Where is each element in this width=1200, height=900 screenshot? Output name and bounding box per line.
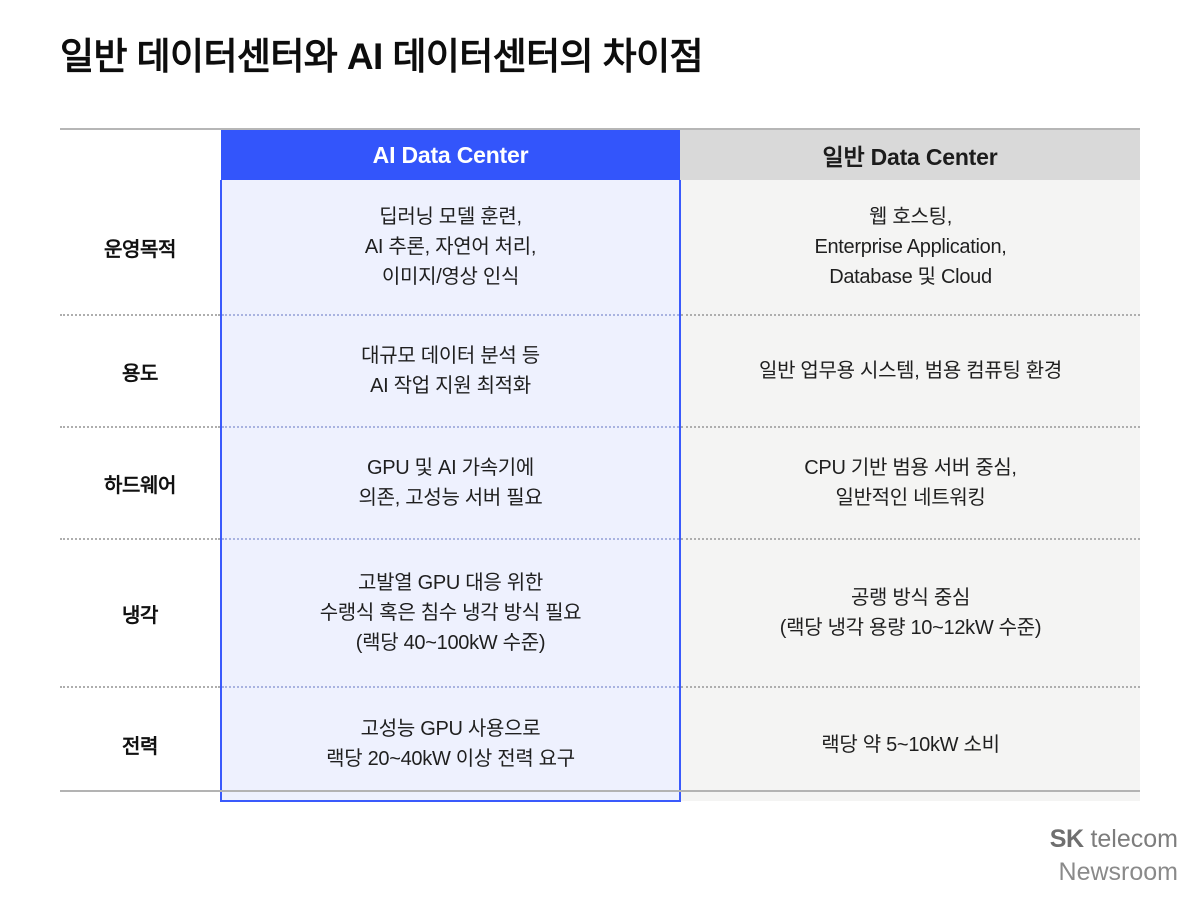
comparison-table-wrapper: AI Data Center 일반 Data Center 운영목적 딥러닝 모… xyxy=(60,128,1140,802)
header-blank-cell xyxy=(60,130,221,180)
table-bottom-rule xyxy=(60,790,1140,792)
cell-line: 이미지/영상 인식 xyxy=(222,262,679,292)
header-ai-data-center: AI Data Center xyxy=(221,130,680,180)
cell-ai-hardware: GPU 및 AI 가속기에 의존, 고성능 서버 필요 xyxy=(221,427,680,539)
row-label-hardware: 하드웨어 xyxy=(60,427,221,539)
page-title: 일반 데이터센터와 AI 데이터센터의 차이점 xyxy=(60,26,703,80)
cell-line: 딥러닝 모델 훈련, xyxy=(222,202,679,232)
header-general-data-center: 일반 Data Center xyxy=(680,130,1140,180)
cell-general-hardware: CPU 기반 범용 서버 중심, 일반적인 네트워킹 xyxy=(680,427,1140,539)
table-row: 전력 고성능 GPU 사용으로 랙당 20~40kW 이상 전력 요구 랙당 약… xyxy=(60,687,1140,801)
logo-brand-line: SK telecom xyxy=(1050,823,1178,856)
cell-general-usage: 일반 업무용 시스템, 범용 컴퓨팅 환경 xyxy=(680,315,1140,427)
cell-line: 의존, 고성능 서버 필요 xyxy=(222,483,679,513)
cell-line: 일반적인 네트워킹 xyxy=(681,483,1140,513)
cell-general-power: 랙당 약 5~10kW 소비 xyxy=(680,687,1140,801)
cell-line: (랙당 냉각 용량 10~12kW 수준) xyxy=(681,613,1140,643)
cell-line: GPU 및 AI 가속기에 xyxy=(222,453,679,483)
cell-line: CPU 기반 범용 서버 중심, xyxy=(681,453,1140,483)
sk-telecom-newsroom-logo: SK telecom Newsroom xyxy=(1050,823,1178,888)
logo-sk-text: SK xyxy=(1050,825,1084,853)
row-label-cooling: 냉각 xyxy=(60,539,221,687)
table-top-rule xyxy=(60,128,1140,130)
table-header: AI Data Center 일반 Data Center xyxy=(60,130,1140,180)
row-label-operating-purpose: 운영목적 xyxy=(60,180,221,315)
cell-line: 랙당 약 5~10kW 소비 xyxy=(681,730,1140,760)
cell-line: 웹 호스팅, xyxy=(681,202,1140,232)
row-label-power: 전력 xyxy=(60,687,221,801)
infographic-page: { "page": { "title": "일반 데이터센터와 AI 데이터센터… xyxy=(0,0,1200,900)
table-body: 운영목적 딥러닝 모델 훈련, AI 추론, 자연어 처리, 이미지/영상 인식… xyxy=(60,180,1140,801)
comparison-table: AI Data Center 일반 Data Center 운영목적 딥러닝 모… xyxy=(60,130,1140,802)
cell-line: (랙당 40~100kW 수준) xyxy=(222,628,679,658)
table-row: 냉각 고발열 GPU 대응 위한 수랭식 혹은 침수 냉각 방식 필요 (랙당 … xyxy=(60,539,1140,687)
logo-newsroom-text: Newsroom xyxy=(1050,856,1178,889)
cell-ai-power: 고성능 GPU 사용으로 랙당 20~40kW 이상 전력 요구 xyxy=(221,687,680,801)
cell-line: 공랭 방식 중심 xyxy=(681,583,1140,613)
cell-line: 고발열 GPU 대응 위한 xyxy=(222,568,679,598)
logo-telecom-text: telecom xyxy=(1084,825,1178,853)
table-row: 운영목적 딥러닝 모델 훈련, AI 추론, 자연어 처리, 이미지/영상 인식… xyxy=(60,180,1140,315)
cell-line: 랙당 20~40kW 이상 전력 요구 xyxy=(222,744,679,774)
cell-line: AI 작업 지원 최적화 xyxy=(222,371,679,401)
cell-line: 수랭식 혹은 침수 냉각 방식 필요 xyxy=(222,598,679,628)
table-row: 하드웨어 GPU 및 AI 가속기에 의존, 고성능 서버 필요 CPU 기반 … xyxy=(60,427,1140,539)
cell-ai-cooling: 고발열 GPU 대응 위한 수랭식 혹은 침수 냉각 방식 필요 (랙당 40~… xyxy=(221,539,680,687)
cell-general-cooling: 공랭 방식 중심 (랙당 냉각 용량 10~12kW 수준) xyxy=(680,539,1140,687)
cell-line: Database 및 Cloud xyxy=(681,262,1140,292)
cell-line: 일반 업무용 시스템, 범용 컴퓨팅 환경 xyxy=(681,356,1140,386)
table-row: 용도 대규모 데이터 분석 등 AI 작업 지원 최적화 일반 업무용 시스템,… xyxy=(60,315,1140,427)
table-header-row: AI Data Center 일반 Data Center xyxy=(60,130,1140,180)
cell-line: 대규모 데이터 분석 등 xyxy=(222,341,679,371)
cell-line: Enterprise Application, xyxy=(681,232,1140,262)
cell-ai-usage: 대규모 데이터 분석 등 AI 작업 지원 최적화 xyxy=(221,315,680,427)
row-label-usage: 용도 xyxy=(60,315,221,427)
cell-ai-operating-purpose: 딥러닝 모델 훈련, AI 추론, 자연어 처리, 이미지/영상 인식 xyxy=(221,180,680,315)
cell-line: 고성능 GPU 사용으로 xyxy=(222,714,679,744)
cell-general-operating-purpose: 웹 호스팅, Enterprise Application, Database … xyxy=(680,180,1140,315)
cell-line: AI 추론, 자연어 처리, xyxy=(222,232,679,262)
